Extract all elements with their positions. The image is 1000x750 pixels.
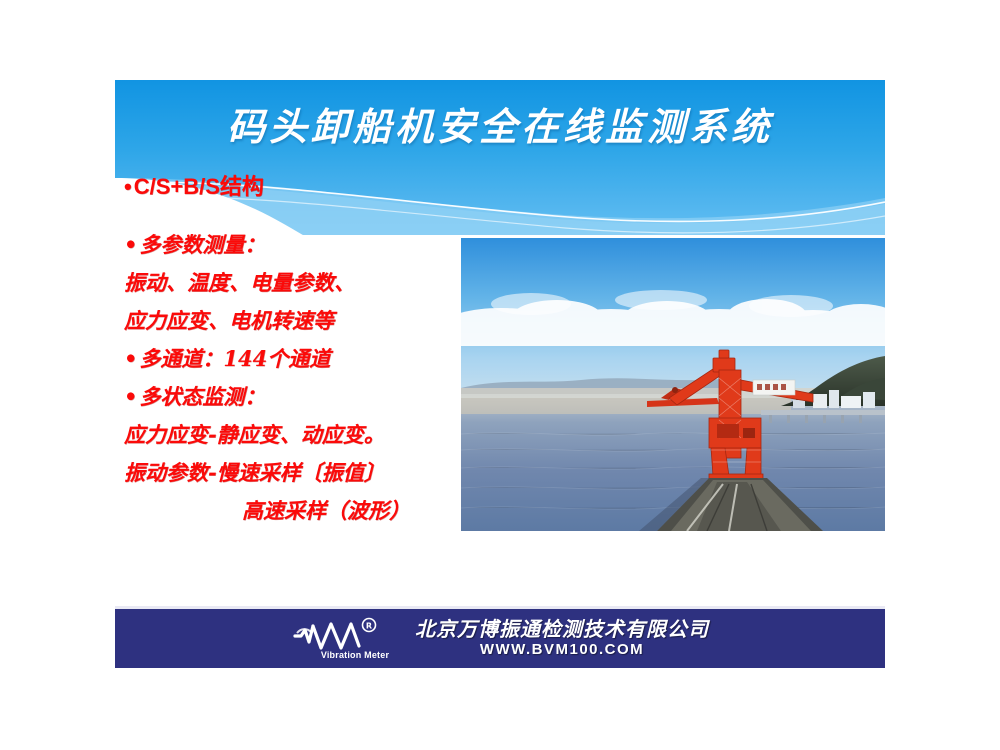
feature-list: •C/S+B/S结构 •多参数测量： 振动、温度、电量参数、 应力应变、电机转速… (124, 168, 454, 530)
list-item: 振动参数-慢速采样〔振值〕 (124, 454, 454, 492)
svg-text:R: R (366, 622, 372, 631)
list-item-label: C/S+B/S结构 (134, 174, 264, 199)
footer-bar: R Vibration Meter 北京万博振通检测技术有限公司 WWW.BVM… (115, 609, 885, 668)
list-item: 应力应变-静应变、动应变。 (124, 416, 454, 454)
list-item-label: 多通道：144个通道 (139, 346, 330, 371)
list-item-label: 高速采样（波形） (242, 498, 410, 523)
slide-canvas: 码头卸船机安全在线监测系统 •C/S+B/S结构 •多参数测量： 振动、温度、电… (0, 0, 1000, 750)
company-name: 北京万博振通检测技术有限公司 (415, 619, 709, 640)
list-item: •C/S+B/S结构 (124, 168, 454, 206)
bullet-marker: • (124, 226, 137, 264)
company-website: WWW.BVM100.COM (415, 642, 709, 658)
ship-unloader-photo (461, 238, 885, 531)
list-item: •多参数测量： (124, 226, 454, 264)
list-item-label: 多参数测量： (139, 232, 265, 257)
list-item-label: 应力应变、电机转速等 (124, 308, 334, 333)
list-item: 高速采样（波形） (124, 492, 454, 530)
list-item: 振动、温度、电量参数、 (124, 264, 454, 302)
list-item-label: 振动、温度、电量参数、 (124, 270, 355, 295)
company-block: 北京万博振通检测技术有限公司 WWW.BVM100.COM (415, 619, 709, 658)
list-item-label: 振动参数-慢速采样〔振值〕 (124, 460, 385, 485)
list-item-label: 多状态监测： (139, 384, 265, 409)
list-item: 应力应变、电机转速等 (124, 302, 454, 340)
bullet-marker: • (124, 340, 137, 378)
list-item: •多状态监测： (124, 378, 454, 416)
list-item: •多通道：144个通道 (124, 340, 454, 378)
bullet-marker: • (124, 168, 132, 206)
list-item-label: 应力应变-静应变、动应变。 (124, 422, 385, 447)
bullet-marker: • (124, 378, 137, 416)
page-title: 码头卸船机安全在线监测系统 (115, 104, 885, 150)
logo-subtitle: Vibration Meter (309, 650, 401, 660)
vibration-meter-logo: R Vibration Meter (291, 616, 403, 661)
